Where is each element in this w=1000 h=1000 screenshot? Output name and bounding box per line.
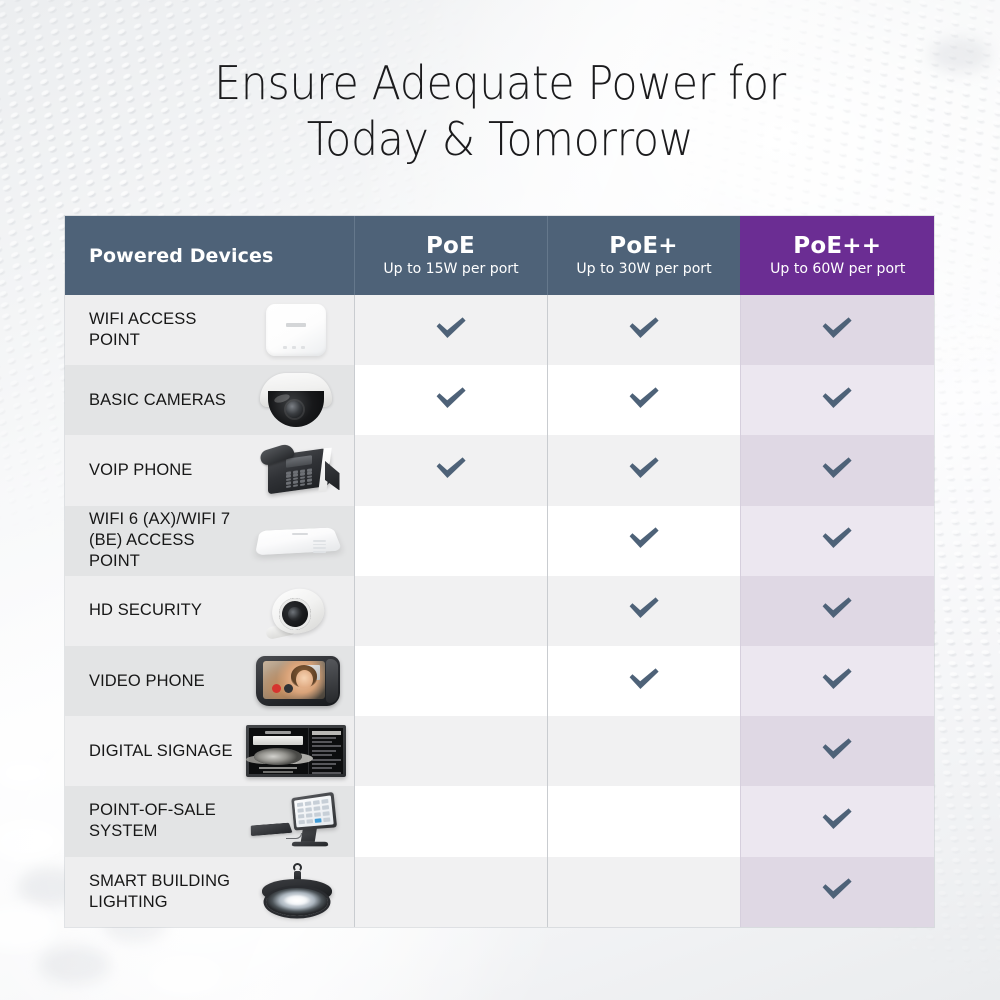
poe-plus-cell (547, 295, 740, 365)
check-icon (627, 455, 661, 481)
column-header-poe-plus-plus-subtitle: Up to 60W per port (743, 260, 931, 279)
poe-plus-cell (547, 646, 740, 716)
check-icon (820, 876, 854, 902)
column-header-poe-plus-subtitle: Up to 30W per port (550, 260, 736, 279)
poe-plus-cell (547, 786, 740, 856)
table-header-row: Powered Devices PoE Up to 15W per port P… (65, 216, 934, 295)
check-icon (627, 666, 661, 692)
poe-plus-cell (547, 506, 740, 576)
poe-cell (354, 435, 547, 505)
ceiling-access-point-image (258, 523, 338, 557)
page-title-line-2: Today & Tomorrow (35, 111, 965, 167)
device-thumbnail (244, 651, 348, 711)
device-cell: VIDEO PHONE (65, 646, 354, 716)
check-icon (627, 315, 661, 341)
check-icon (820, 736, 854, 762)
poe-plus-plus-cell (740, 576, 934, 646)
table-row: VIDEO PHONE (65, 646, 934, 716)
device-label: POINT-OF-SALE SYSTEM (89, 800, 242, 842)
voip-phone-image (252, 444, 342, 498)
check-icon (627, 385, 661, 411)
device-label: WIFI ACCESS POINT (89, 309, 242, 351)
poe-plus-plus-cell (740, 506, 934, 576)
background-blob (40, 946, 110, 984)
poe-comparison-table: Powered Devices PoE Up to 15W per port P… (65, 216, 934, 927)
check-icon (434, 315, 468, 341)
poe-plus-plus-cell (740, 786, 934, 856)
poe-cell (354, 857, 547, 927)
device-thumbnail (244, 511, 348, 571)
check-icon (820, 455, 854, 481)
check-icon (820, 315, 854, 341)
device-thumbnail (244, 581, 348, 641)
poe-plus-cell (547, 716, 740, 786)
device-cell: WIFI ACCESS POINT (65, 295, 354, 365)
check-icon (434, 385, 468, 411)
digital-signage-image (246, 725, 346, 777)
column-header-poe-plus-title: PoE+ (548, 233, 740, 260)
column-header-powered-devices-label: Powered Devices (89, 245, 273, 267)
table-row: VOIP PHONE (65, 435, 934, 505)
device-thumbnail (244, 440, 348, 500)
table-row: POINT-OF-SALE SYSTEM (65, 786, 934, 856)
column-header-poe-plus-plus: PoE++ Up to 60W per port (740, 216, 934, 295)
poster-canvas: Ensure Adequate Power for Today & Tomorr… (0, 0, 1000, 1000)
poe-cell (354, 576, 547, 646)
high-bay-light-image (260, 862, 334, 922)
poe-cell (354, 506, 547, 576)
device-label: WIFI 6 (AX)/WIFI 7 (BE) ACCESS POINT (89, 509, 242, 572)
page-title: Ensure Adequate Power for Today & Tomorr… (35, 55, 965, 167)
device-cell: VOIP PHONE (65, 435, 354, 505)
device-thumbnail (244, 370, 348, 430)
device-cell: WIFI 6 (AX)/WIFI 7 (BE) ACCESS POINT (65, 506, 354, 576)
poe-plus-cell (547, 857, 740, 927)
poe-plus-plus-cell (740, 295, 934, 365)
table-row: HD SECURITY (65, 576, 934, 646)
poe-plus-plus-cell (740, 646, 934, 716)
device-label: VIDEO PHONE (89, 671, 242, 692)
table-row: SMART BUILDING LIGHTING (65, 857, 934, 927)
dome-camera-image (260, 373, 332, 427)
poe-cell (354, 646, 547, 716)
background-blob (150, 958, 222, 994)
wifi-access-point-image (266, 304, 326, 356)
poe-plus-plus-cell (740, 857, 934, 927)
device-label: DIGITAL SIGNAGE (89, 741, 242, 762)
column-header-poe: PoE Up to 15W per port (354, 216, 547, 295)
poe-cell (354, 716, 547, 786)
column-header-poe-plus: PoE+ Up to 30W per port (547, 216, 740, 295)
device-cell: SMART BUILDING LIGHTING (65, 857, 354, 927)
column-header-powered-devices: Powered Devices (65, 216, 354, 295)
poe-plus-cell (547, 365, 740, 435)
check-icon (820, 595, 854, 621)
check-icon (820, 806, 854, 832)
check-icon (434, 455, 468, 481)
table-row: BASIC CAMERAS (65, 365, 934, 435)
check-icon (820, 385, 854, 411)
check-icon (627, 525, 661, 551)
device-cell: HD SECURITY (65, 576, 354, 646)
turret-camera-image (262, 583, 332, 639)
table-header: Powered Devices PoE Up to 15W per port P… (65, 216, 934, 295)
check-icon (627, 595, 661, 621)
device-cell: BASIC CAMERAS (65, 365, 354, 435)
device-cell: POINT-OF-SALE SYSTEM (65, 786, 354, 856)
device-label: HD SECURITY (89, 600, 242, 621)
poe-plus-plus-cell (740, 716, 934, 786)
poe-cell (354, 295, 547, 365)
check-icon (820, 666, 854, 692)
table-row: WIFI ACCESS POINT (65, 295, 934, 365)
device-thumbnail (244, 721, 348, 781)
poe-plus-cell (547, 435, 740, 505)
poe-cell (354, 786, 547, 856)
page-title-line-1: Ensure Adequate Power for (214, 56, 786, 110)
check-icon (820, 525, 854, 551)
column-header-poe-title: PoE (355, 233, 547, 260)
poe-cell (354, 365, 547, 435)
device-label: BASIC CAMERAS (89, 390, 242, 411)
device-thumbnail (244, 862, 348, 922)
table-body: WIFI ACCESS POINT BASIC CAMERAS (65, 295, 934, 927)
device-thumbnail (244, 300, 348, 360)
poe-plus-cell (547, 576, 740, 646)
column-header-poe-subtitle: Up to 15W per port (357, 260, 543, 279)
device-label: SMART BUILDING LIGHTING (89, 871, 242, 913)
poe-plus-plus-cell (740, 435, 934, 505)
poe-plus-plus-cell (740, 365, 934, 435)
table-row: WIFI 6 (AX)/WIFI 7 (BE) ACCESS POINT (65, 506, 934, 576)
column-header-poe-plus-plus-title: PoE++ (741, 233, 935, 260)
device-label: VOIP PHONE (89, 460, 242, 481)
video-phone-image (256, 656, 340, 706)
device-cell: DIGITAL SIGNAGE (65, 716, 354, 786)
pos-system-image (250, 793, 344, 851)
table-row: DIGITAL SIGNAGE (65, 716, 934, 786)
device-thumbnail (244, 791, 348, 851)
